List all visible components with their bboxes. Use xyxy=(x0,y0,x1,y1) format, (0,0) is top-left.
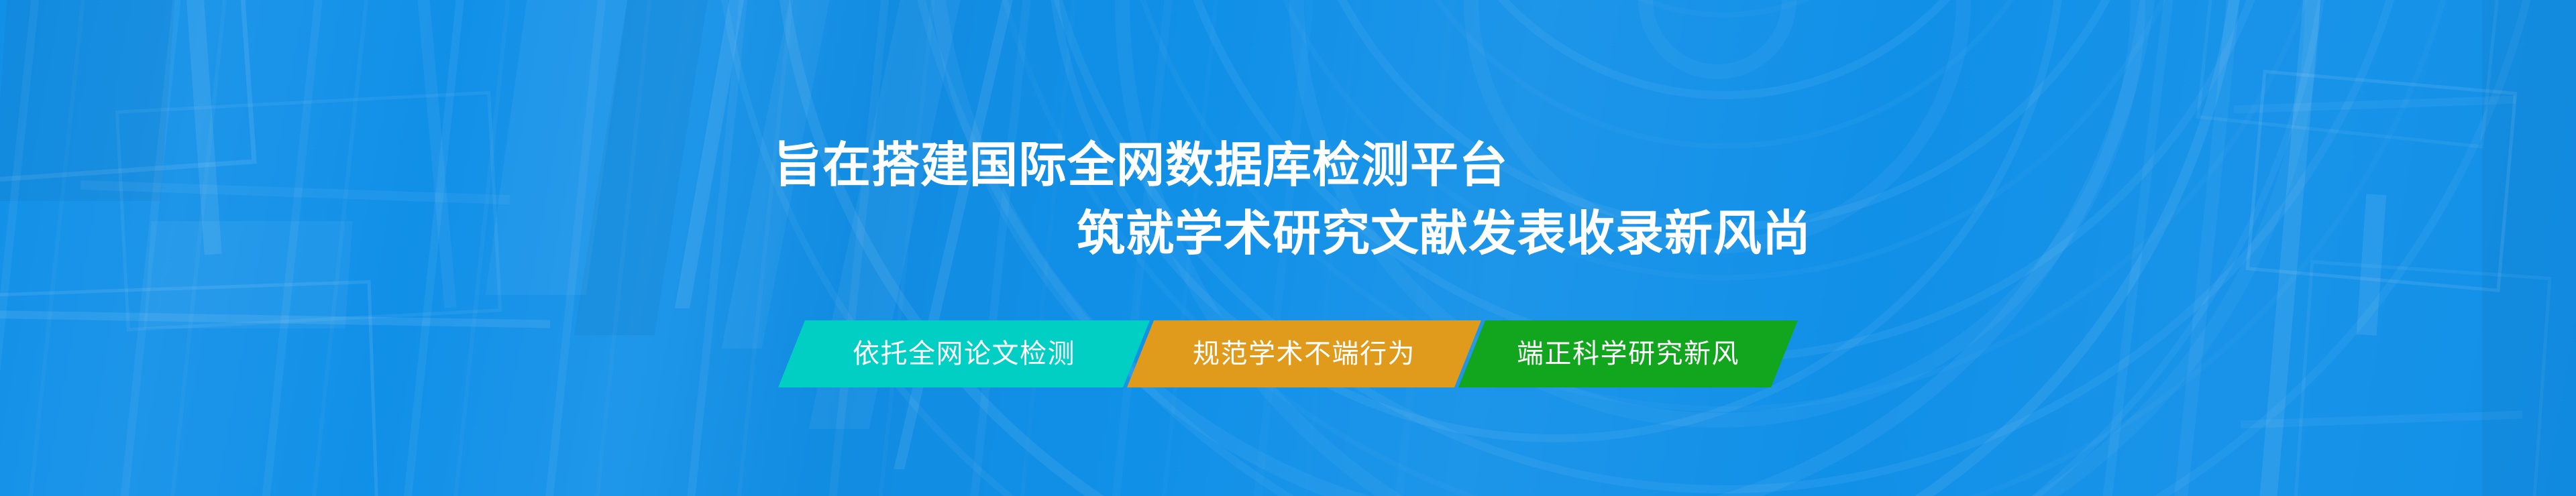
feature-badge-paper-detection[interactable]: 依托全网论文检测 xyxy=(778,320,1150,387)
feature-badge-label: 端正科学研究新风 xyxy=(1517,340,1739,367)
feature-badge-strip: 依托全网论文检测 规范学术不端行为 端正科学研究新风 xyxy=(0,320,2576,387)
feature-badge-misconduct-regulation[interactable]: 规范学术不端行为 xyxy=(1127,320,1481,387)
headline-line-1: 旨在搭建国际全网数据库检测平台 xyxy=(0,131,2576,200)
feature-badge-research-ethos[interactable]: 端正科学研究新风 xyxy=(1458,320,1798,387)
headline-line-2: 筑就学术研究文献发表收录新风尚 xyxy=(0,200,2576,268)
hero-headline: 旨在搭建国际全网数据库检测平台 筑就学术研究文献发表收录新风尚 xyxy=(0,131,2576,268)
feature-badge-label: 依托全网论文检测 xyxy=(853,340,1075,367)
hero-banner: 旨在搭建国际全网数据库检测平台 筑就学术研究文献发表收录新风尚 依托全网论文检测… xyxy=(0,0,2576,496)
feature-badge-label: 规范学术不端行为 xyxy=(1193,340,1415,367)
